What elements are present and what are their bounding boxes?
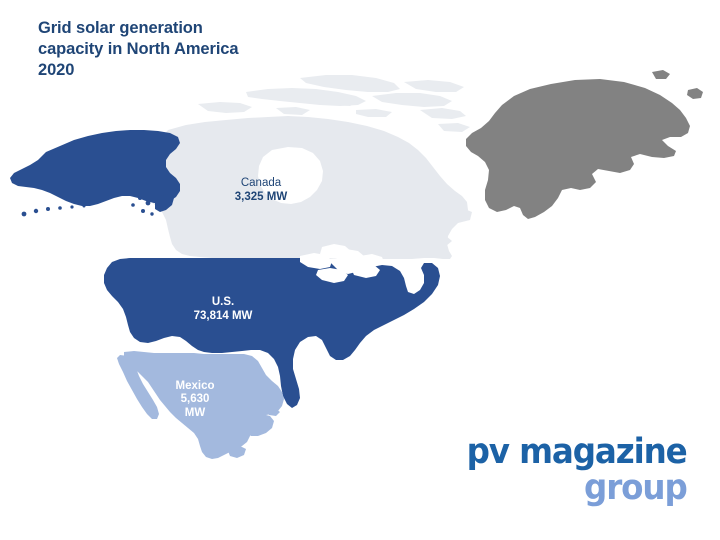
page-title: Grid solar generation capacity in North … [38, 18, 268, 81]
map-label-canada[interactable]: Canada 3,325 MW [181, 176, 341, 204]
map-region-greenland[interactable] [466, 70, 703, 219]
map-label-canada-name: Canada [181, 176, 341, 190]
map-region-canada[interactable] [144, 75, 472, 259]
pv-magazine-logo[interactable]: pv magazine group [450, 436, 687, 506]
map-label-canada-value: 3,325 MW [181, 190, 341, 204]
map-label-us[interactable]: U.S. 73,814 MW [153, 295, 293, 323]
map-label-us-name: U.S. [153, 295, 293, 309]
logo-primary-text: pv magazine [467, 436, 687, 469]
logo-secondary-text: group [467, 471, 687, 506]
map-label-us-value: 73,814 MW [153, 309, 293, 323]
map-label-mexico-value-unit: MW [156, 407, 234, 420]
title-block: Grid solar generation capacity in North … [38, 18, 268, 81]
infographic-canvas: Grid solar generation capacity in North … [0, 0, 720, 540]
map-label-mexico-name: Mexico [156, 380, 234, 393]
map-label-mexico[interactable]: Mexico 5,630 MW [156, 380, 234, 420]
map-label-mexico-value-number: 5,630 [156, 393, 234, 406]
